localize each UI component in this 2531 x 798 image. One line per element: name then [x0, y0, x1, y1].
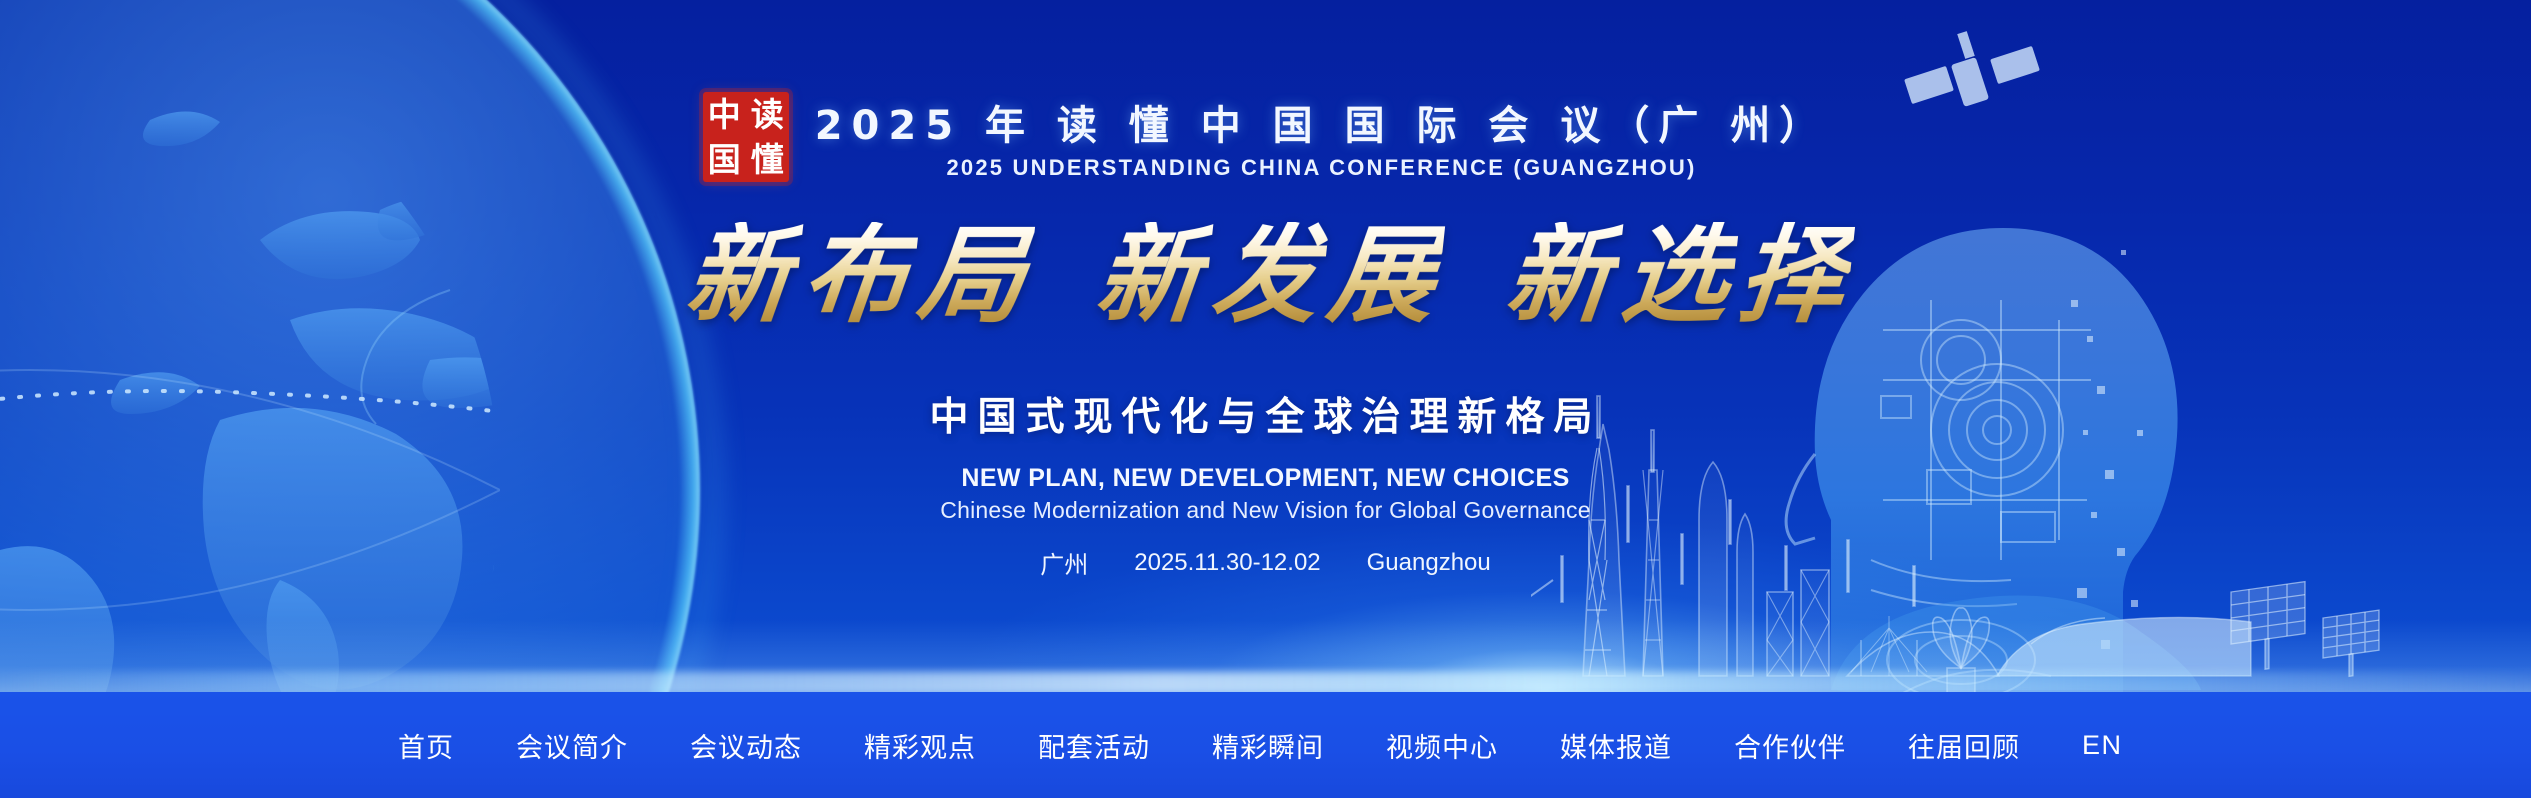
event-dates: 2025.11.30-12.02 [1134, 549, 1320, 577]
calligraphy-char: 局 [908, 222, 1035, 328]
seal-char-4: 懂 [751, 143, 784, 176]
seal-char-3: 国 [708, 143, 741, 176]
understanding-china-seal-icon: 中 读 国 懂 [703, 92, 789, 182]
nav-moments[interactable]: 精彩瞬间 [1212, 726, 1324, 765]
nav-media[interactable]: 媒体报道 [1560, 726, 1672, 765]
calligraphy-group-1: 新 布 局 [682, 222, 1030, 328]
calligraphy-char: 布 [792, 222, 919, 328]
nav-viewpoints[interactable]: 精彩观点 [864, 726, 976, 765]
conference-banner: 中 读 国 懂 2025 年 读 懂 中 国 国 际 会 议（广 州） 2025… [0, 0, 2531, 798]
nav-partners[interactable]: 合作伙伴 [1734, 726, 1846, 765]
calligraphy-slogan: 新 布 局 新 发 展 新 选 择 [0, 222, 2531, 328]
nav-video[interactable]: 视频中心 [1386, 726, 1498, 765]
masthead-text: 2025 年 读 懂 中 国 国 际 会 议（广 州） 2025 UNDERST… [815, 93, 1829, 181]
nav-home[interactable]: 首页 [398, 726, 454, 765]
calligraphy-char: 新 [1496, 222, 1623, 328]
event-city-cn: 广州 [1040, 545, 1088, 580]
nav-news[interactable]: 会议动态 [690, 726, 802, 765]
nav-archive[interactable]: 往届回顾 [1908, 726, 2020, 765]
conference-name-en: 2025 UNDERSTANDING CHINA CONFERENCE (GUA… [947, 155, 1697, 181]
nav-events[interactable]: 配套活动 [1038, 726, 1150, 765]
nav-language-en[interactable]: EN [2082, 730, 2123, 761]
theme-subtitle-en-primary: NEW PLAN, NEW DEVELOPMENT, NEW CHOICES [0, 464, 2531, 493]
calligraphy-char: 选 [1612, 222, 1739, 328]
calligraphy-char: 展 [1318, 222, 1445, 328]
conference-name-cn: 2025 年 读 懂 中 国 国 际 会 议（广 州） [815, 93, 1829, 151]
seal-char-2: 读 [751, 98, 784, 131]
theme-subtitle-cn: 中国式现代化与全球治理新格局 [0, 386, 2531, 442]
calligraphy-char: 新 [676, 222, 803, 328]
calligraphy-char: 择 [1728, 222, 1855, 328]
nav-items-container: 首页 会议简介 会议动态 精彩观点 配套活动 精彩瞬间 视频中心 媒体报道 合作… [398, 726, 2185, 765]
main-navigation: 首页 会议简介 会议动态 精彩观点 配套活动 精彩瞬间 视频中心 媒体报道 合作… [0, 692, 2531, 798]
theme-subtitle-en-secondary: Chinese Modernization and New Vision for… [0, 497, 2531, 524]
event-city-en: Guangzhou [1367, 549, 1491, 577]
nav-about[interactable]: 会议简介 [516, 726, 628, 765]
calligraphy-group-3: 新 选 择 [1502, 222, 1850, 328]
horizon-line [0, 672, 2531, 694]
seal-char-1: 中 [708, 98, 741, 131]
masthead: 中 读 国 懂 2025 年 读 懂 中 国 国 际 会 议（广 州） 2025… [0, 92, 2531, 182]
calligraphy-char: 发 [1202, 222, 1329, 328]
calligraphy-group-2: 新 发 展 [1092, 222, 1440, 328]
calligraphy-char: 新 [1086, 222, 1213, 328]
event-meta: 广州 2025.11.30-12.02 Guangzhou [0, 545, 2531, 580]
